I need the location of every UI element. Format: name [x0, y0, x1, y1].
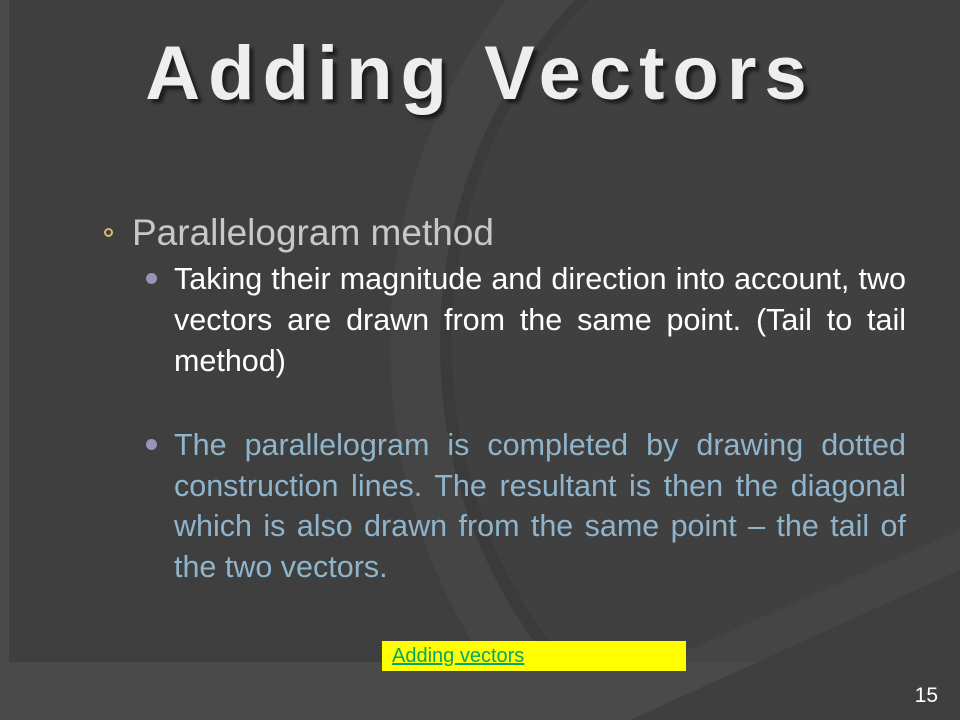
slide: Adding Vectors Parallelogram method Taki…: [0, 0, 960, 720]
bullet-text: Taking their magnitude and direction int…: [174, 262, 906, 377]
bullet-level2-parallelogram-completion: The parallelogram is completed by drawin…: [96, 425, 906, 587]
bullet-spacer: [96, 381, 906, 425]
adding-vectors-link[interactable]: Adding vectors: [382, 645, 524, 668]
bullet-text: The parallelogram is completed by drawin…: [174, 428, 906, 584]
open-circle-bullet-icon: [104, 228, 113, 237]
filled-circle-bullet-icon: [146, 439, 157, 450]
bullet-level2-tail-to-tail: Taking their magnitude and direction int…: [96, 259, 906, 381]
slide-body: Parallelogram method Taking their magnit…: [96, 212, 906, 587]
bullet-level1-parallelogram-method: Parallelogram method: [96, 212, 906, 253]
page-number: 15: [915, 684, 938, 708]
slide-title: Adding Vectors: [0, 30, 960, 117]
bullet-text: Parallelogram method: [132, 212, 494, 253]
filled-circle-bullet-icon: [146, 273, 157, 284]
adding-vectors-link-box[interactable]: Adding vectors: [382, 641, 686, 671]
